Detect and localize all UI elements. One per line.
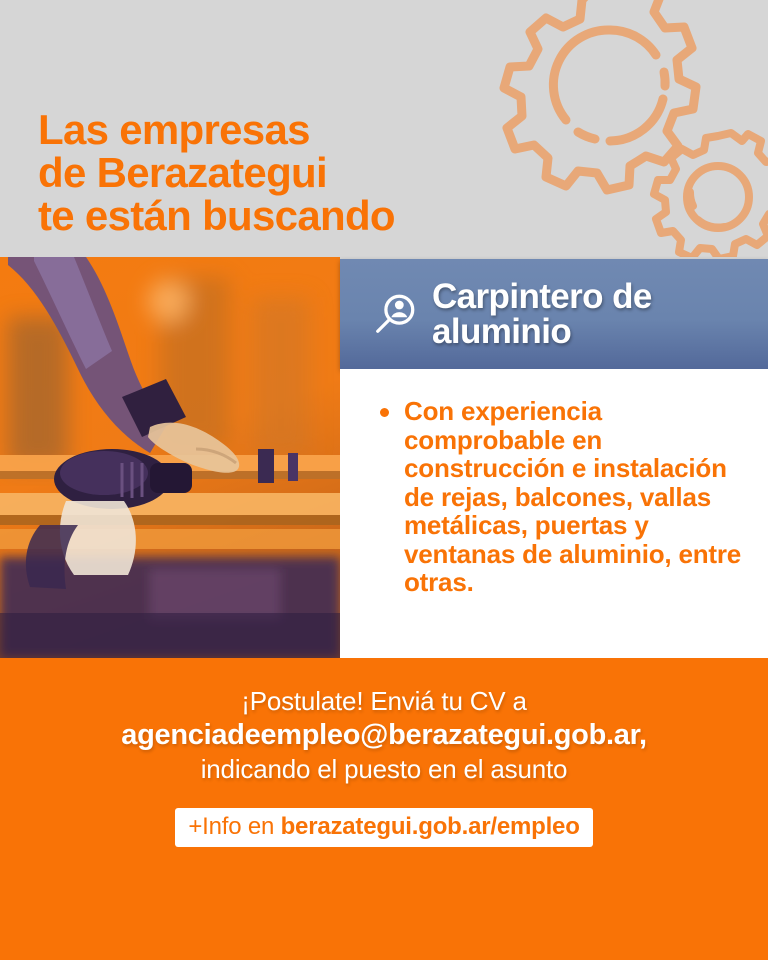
contact-email[interactable]: agenciadeempleo@berazategui.gob.ar,	[0, 717, 768, 753]
more-info-box[interactable]: +Info en berazategui.gob.ar/empleo	[175, 808, 592, 847]
page-title: Las empresas de Berazategui te están bus…	[38, 108, 395, 237]
gear-large-icon	[504, 0, 696, 190]
requirement-item: Con experiencia comprobable en construcc…	[374, 397, 744, 597]
worker-photo	[0, 257, 340, 658]
header-band: Las empresas de Berazategui te están bus…	[0, 0, 768, 257]
more-info-url[interactable]: berazategui.gob.ar/empleo	[281, 813, 580, 840]
cta-headline: ¡Postulate! Enviá tu CV a	[0, 658, 768, 717]
worker-photo-illustration	[0, 257, 340, 658]
job-title: Carpintero de aluminio	[432, 279, 652, 349]
job-title-banner: Carpintero de aluminio	[340, 259, 768, 369]
person-search-icon	[372, 291, 418, 337]
more-info-prefix: +Info en	[188, 813, 280, 840]
footer-cta: ¡Postulate! Enviá tu CV a agenciadeemple…	[0, 658, 768, 960]
requirements-list: Con experiencia comprobable en construcc…	[374, 397, 744, 597]
cta-subject-note: indicando el puesto en el asunto	[0, 753, 768, 786]
job-posting-poster: Las empresas de Berazategui te están bus…	[0, 0, 768, 960]
requirements-card: Con experiencia comprobable en construcc…	[340, 369, 768, 658]
